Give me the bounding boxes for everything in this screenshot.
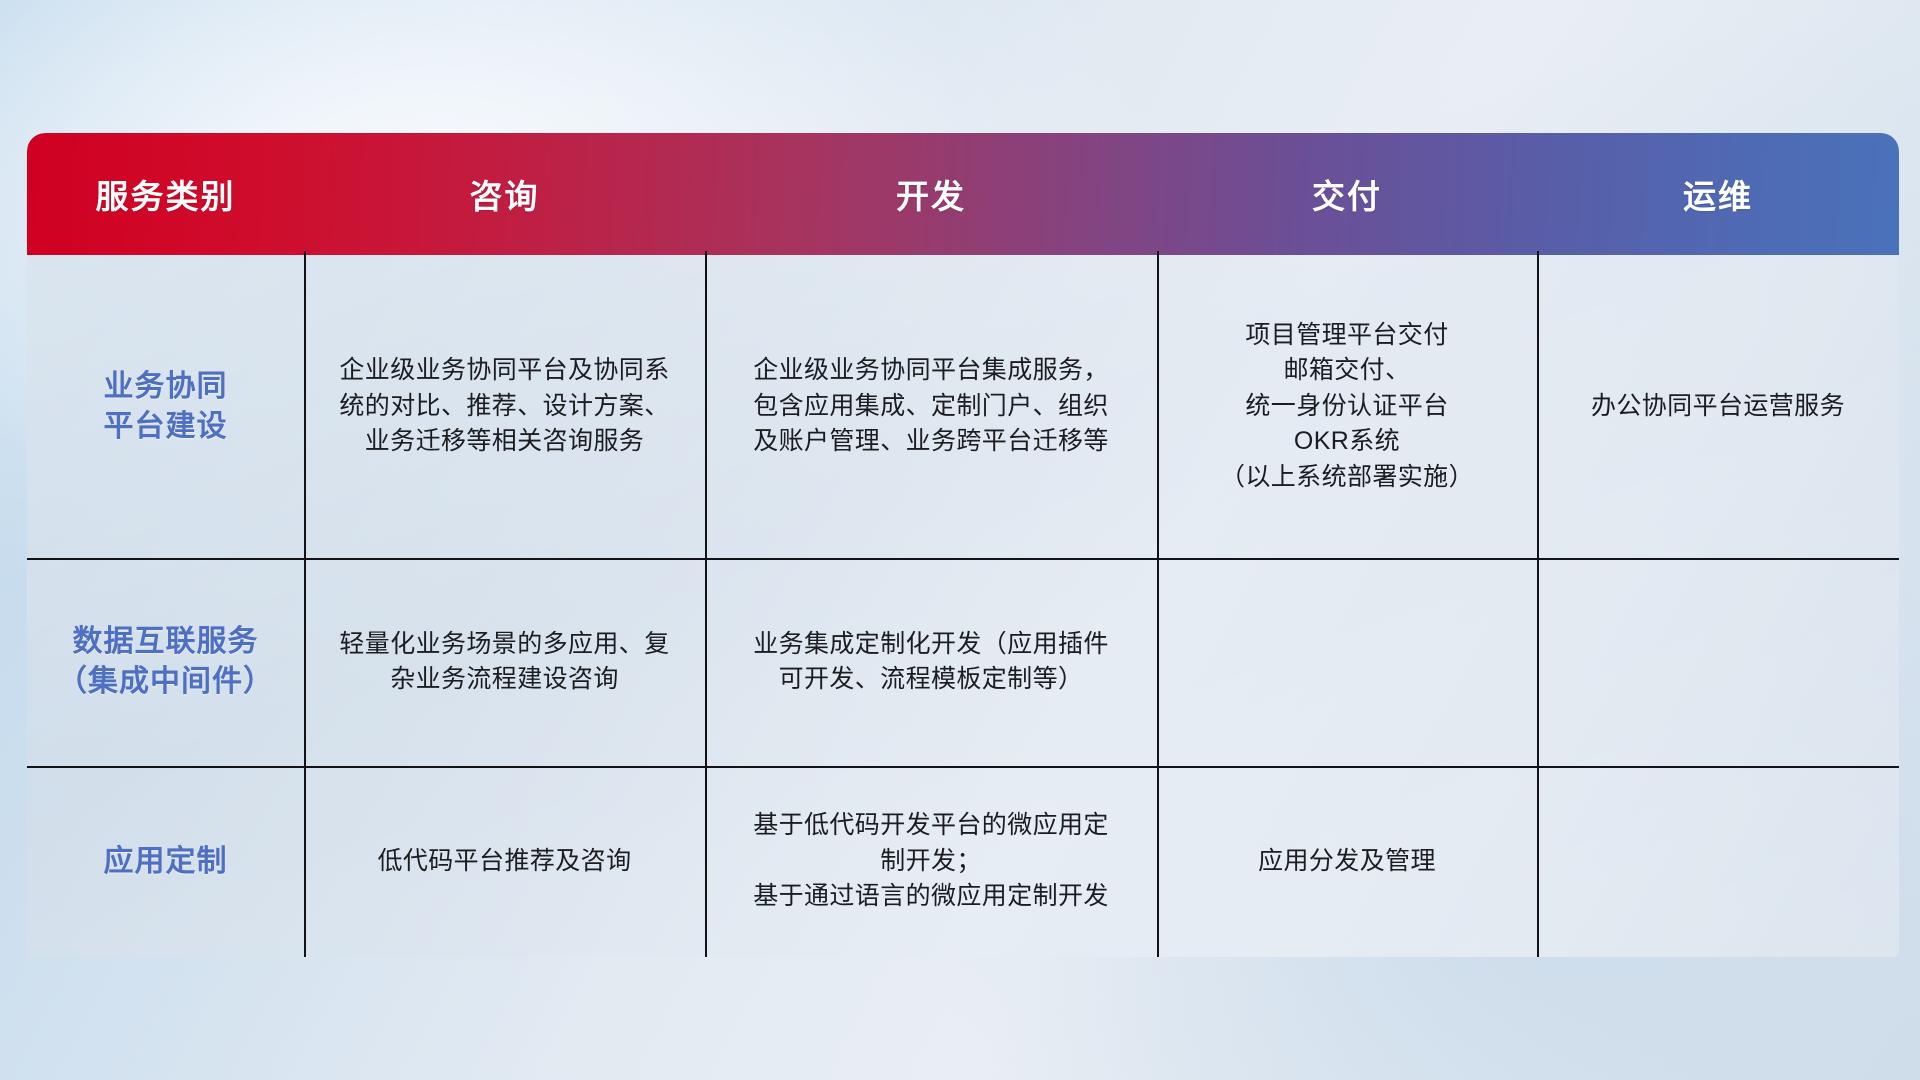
- row-label-cell: 应用定制: [27, 766, 304, 957]
- cell-delivery: 应用分发及管理: [1157, 766, 1537, 957]
- cell-text: 业务集成定制化开发（应用插件 可开发、流程模板定制等）: [753, 627, 1109, 698]
- row-label: 数据互联服务 （集成中间件）: [57, 622, 274, 701]
- column-header-consulting: 咨询: [304, 133, 705, 255]
- cell-consulting: 低代码平台推荐及咨询: [304, 766, 705, 957]
- column-header-development: 开发: [705, 133, 1157, 255]
- cell-development: 企业级业务协同平台集成服务， 包含应用集成、定制门户、组织 及账户管理、业务跨平…: [705, 255, 1157, 558]
- cell-text: 低代码平台推荐及咨询: [377, 844, 631, 880]
- cell-operations: [1537, 766, 1899, 957]
- cell-text: 基于低代码开发平台的微应用定 制开发； 基于通过语言的微应用定制开发: [753, 808, 1109, 915]
- cell-text: 企业级业务协同平台及协同系 统的对比、推荐、设计方案、 业务迁移等相关咨询服务: [339, 353, 669, 460]
- column-header-delivery: 交付: [1157, 133, 1537, 255]
- cell-consulting: 轻量化业务场景的多应用、复 杂业务流程建设咨询: [304, 558, 705, 766]
- table-row: 业务协同 平台建设 企业级业务协同平台及协同系 统的对比、推荐、设计方案、 业务…: [27, 255, 1899, 558]
- cell-delivery: [1157, 558, 1537, 766]
- cell-development: 业务集成定制化开发（应用插件 可开发、流程模板定制等）: [705, 558, 1157, 766]
- row-label-cell: 业务协同 平台建设: [27, 255, 304, 558]
- row-label-cell: 数据互联服务 （集成中间件）: [27, 558, 304, 766]
- row-label: 应用定制: [104, 842, 228, 882]
- table-header-row: 服务类别 咨询 开发 交付 运维: [27, 133, 1899, 255]
- table-row: 数据互联服务 （集成中间件） 轻量化业务场景的多应用、复 杂业务流程建设咨询 业…: [27, 558, 1899, 766]
- cell-text: 企业级业务协同平台集成服务， 包含应用集成、定制门户、组织 及账户管理、业务跨平…: [753, 353, 1109, 460]
- cell-operations: [1537, 558, 1899, 766]
- cell-text: 轻量化业务场景的多应用、复 杂业务流程建设咨询: [339, 627, 669, 698]
- cell-text: 项目管理平台交付 邮箱交付、 统一身份认证平台 OKR系统 （以上系统部署实施）: [1220, 318, 1474, 496]
- service-matrix-table: 服务类别 咨询 开发 交付 运维 业务协同 平台建设 企业级业务协同平台及协同系…: [27, 133, 1899, 957]
- cell-consulting: 企业级业务协同平台及协同系 统的对比、推荐、设计方案、 业务迁移等相关咨询服务: [304, 255, 705, 558]
- service-matrix-table-container: 服务类别 咨询 开发 交付 运维 业务协同 平台建设 企业级业务协同平台及协同系…: [27, 133, 1899, 957]
- row-label: 业务协同 平台建设: [104, 367, 228, 446]
- cell-text: 办公协同平台运营服务: [1591, 389, 1845, 425]
- cell-operations: 办公协同平台运营服务: [1537, 255, 1899, 558]
- table-body: 业务协同 平台建设 企业级业务协同平台及协同系 统的对比、推荐、设计方案、 业务…: [27, 255, 1899, 957]
- cell-development: 基于低代码开发平台的微应用定 制开发； 基于通过语言的微应用定制开发: [705, 766, 1157, 957]
- cell-delivery: 项目管理平台交付 邮箱交付、 统一身份认证平台 OKR系统 （以上系统部署实施）: [1157, 255, 1537, 558]
- cell-text: 应用分发及管理: [1258, 844, 1436, 880]
- table-row: 应用定制 低代码平台推荐及咨询 基于低代码开发平台的微应用定 制开发； 基于通过…: [27, 766, 1899, 957]
- column-header-operations: 运维: [1537, 133, 1899, 255]
- column-header-category: 服务类别: [27, 133, 304, 255]
